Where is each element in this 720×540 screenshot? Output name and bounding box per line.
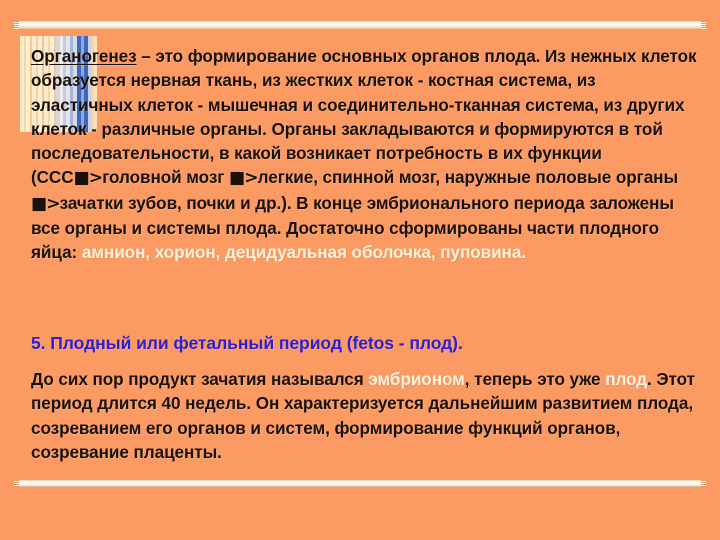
- fetus-highlight: плод: [605, 369, 647, 389]
- top-divider-left-cap: [14, 21, 19, 29]
- ovum-parts-highlight: амнион, хорион, децидуальная оболочка, п…: [82, 242, 526, 262]
- organogenesis-paragraph: Органогенез – это формирование основных …: [31, 44, 697, 265]
- closing-text-part1: До сих пор продукт зачатия назывался: [31, 369, 368, 389]
- arrow-glyph-3: ■>: [31, 194, 60, 214]
- arrow-glyph-2: ■>: [229, 168, 258, 188]
- top-divider-rule: [14, 21, 706, 29]
- organogenesis-text-part3: легкие, спинной мозг, наружные половые о…: [258, 167, 678, 187]
- bottom-divider-rule: [14, 480, 706, 487]
- fetal-period-heading: 5. Плодный или фетальный период (fetos -…: [31, 331, 697, 355]
- fetal-period-paragraph: До сих пор продукт зачатия назывался эмб…: [31, 367, 697, 464]
- arrow-glyph-1: ■>: [74, 168, 103, 188]
- embryo-highlight: эмбрионом: [368, 369, 464, 389]
- fetal-period-heading-period: .: [458, 333, 463, 353]
- slide-canvas: Органогенез – это формирование основных …: [0, 0, 720, 540]
- bottom-divider-left-cap: [14, 480, 19, 487]
- bottom-divider-right-cap: [701, 480, 706, 487]
- closing-text-part2: , теперь это уже: [465, 369, 605, 389]
- organogenesis-term: Органогенез: [31, 46, 137, 66]
- organogenesis-text-part2: головной мозг: [102, 167, 229, 187]
- top-divider-right-cap: [701, 21, 706, 29]
- fetal-period-heading-text: 5. Плодный или фетальный период (fetos -…: [31, 333, 458, 353]
